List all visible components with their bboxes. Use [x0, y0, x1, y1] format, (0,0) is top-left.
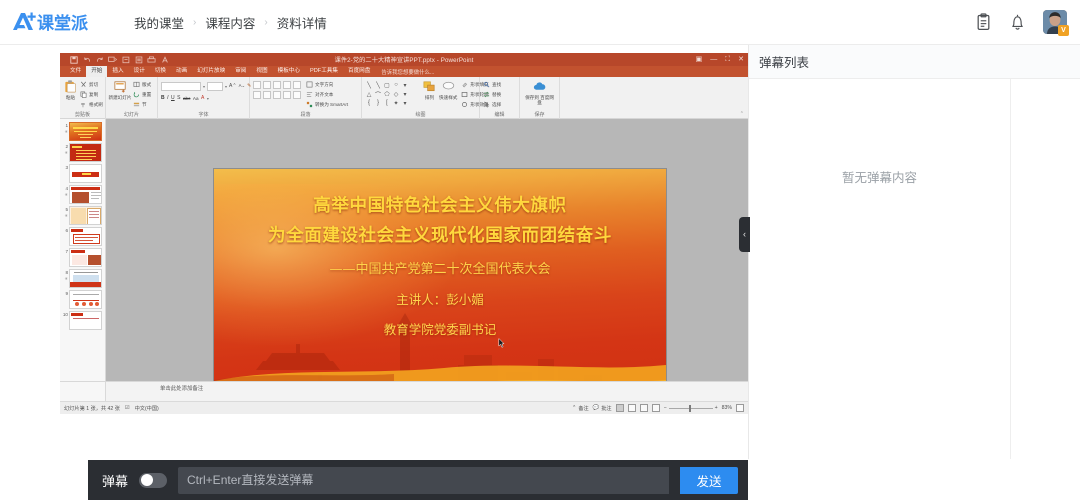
normal-view-icon[interactable]	[616, 404, 624, 412]
columns-icon[interactable]	[293, 91, 301, 99]
slide-sorter-icon[interactable]	[628, 404, 636, 412]
tab-home[interactable]: 开始	[86, 66, 107, 77]
thumbnail-5[interactable]	[69, 206, 102, 225]
ribbon-group-paragraph: 文字方向 对齐文本 转换为 SmartArt 段落	[250, 77, 362, 119]
shape-rect-icon[interactable]: ▢	[383, 81, 391, 89]
slide-presenter: 主讲人：彭小媚	[396, 285, 484, 315]
replace-label: 替换	[492, 92, 501, 98]
powerpoint-window: 课件2-党的二十大精神宣讲PPT.pptx - PowerPoint ▣ — ⛶…	[60, 53, 748, 414]
workspace: 课件2-党的二十大精神宣讲PPT.pptx - PowerPoint ▣ — ⛶…	[0, 45, 1080, 459]
thumbnail-row[interactable]: 7	[60, 247, 105, 268]
align-text-icon	[306, 91, 313, 98]
ribbon-group-slides: 新建幻灯片 版式 重置	[106, 77, 158, 119]
header-actions: V	[975, 10, 1080, 34]
chevron-left-icon: ‹	[743, 230, 746, 239]
paste-icon	[63, 79, 78, 94]
ppt-document-title: 课件2-党的二十大精神宣讲PPT.pptx - PowerPoint	[60, 55, 748, 64]
decrease-font-size-button[interactable]: A⌄	[239, 83, 246, 89]
panel-divider	[1010, 79, 1011, 459]
shape-oval-icon[interactable]: ○	[392, 81, 400, 89]
avatar[interactable]: V	[1043, 10, 1067, 34]
align-left-icon[interactable]	[253, 91, 261, 99]
layout-icon	[133, 81, 140, 88]
slide-subtitle: ——中国共产党第二十次全国代表大会	[329, 255, 550, 285]
thumb-number: 5	[65, 207, 68, 212]
ribbon-group-editing: 查找 替换 选择 编辑	[480, 77, 520, 119]
ribbon-group-font: ▾ ▾ A⌃ A⌄ ✎ B I U S abc	[158, 77, 250, 119]
increase-indent-icon[interactable]	[283, 81, 291, 89]
send-danmaku-button[interactable]: 发送	[680, 467, 738, 494]
replace-icon	[483, 91, 490, 98]
tab-slideshow[interactable]: 幻灯片放映	[192, 66, 230, 77]
cut-icon	[80, 81, 87, 88]
shape-brace-right-icon[interactable]: }	[374, 99, 382, 107]
font-size-dropdown-icon[interactable]: ▾	[225, 84, 227, 89]
thumbnail-10[interactable]	[69, 311, 102, 330]
copy-button[interactable]: 复制	[80, 90, 103, 99]
shape-triangle-icon[interactable]: △	[365, 90, 373, 98]
zoom-out-button[interactable]: −	[664, 405, 667, 411]
new-slide-button[interactable]: 新建幻灯片	[109, 79, 131, 101]
search-icon	[483, 81, 490, 88]
shape-diamond-icon[interactable]: ◇	[392, 90, 400, 98]
danmaku-input[interactable]	[178, 467, 669, 494]
danmaku-panel-header: 弹幕列表	[749, 45, 1080, 79]
ppt-status-bar: 幻灯片第 1 张，共 42 张 ☑ 中文(中国) ⌃ 备注 💬 批注	[60, 401, 748, 414]
breadcrumb-item-1[interactable]: 课程内容	[205, 13, 255, 32]
thumbnails-pane-tail	[60, 382, 106, 402]
section-label: 节	[142, 102, 147, 108]
align-text-label: 对齐文本	[315, 92, 333, 98]
app-header: 课堂派 我的课堂 › 课程内容 › 资料详情	[0, 0, 1080, 45]
zoom-track[interactable]	[669, 408, 713, 409]
breadcrumb-item-0[interactable]: 我的课堂	[134, 13, 184, 32]
thumbnail-4[interactable]	[69, 185, 102, 204]
italic-button[interactable]: I	[167, 95, 168, 101]
breadcrumb-separator-icon: ›	[264, 17, 267, 28]
text-direction-label: 文字方向	[315, 82, 333, 88]
thumb-number: 7	[65, 249, 68, 254]
quick-styles-label: 快速样式	[439, 95, 457, 101]
ribbon-collapse-area: ⌃	[560, 77, 748, 118]
cut-button[interactable]: 剪切	[80, 80, 103, 89]
clipboard-icon[interactable]	[975, 13, 992, 31]
status-left: 幻灯片第 1 张，共 42 张 ☑ 中文(中国)	[60, 405, 159, 412]
section-icon	[133, 101, 140, 108]
reading-view-icon[interactable]	[640, 404, 648, 412]
strikethrough-button[interactable]: abc	[183, 96, 190, 101]
shape-scroll-icon[interactable]: ▾	[401, 90, 409, 98]
reset-icon	[133, 91, 140, 98]
tab-insert[interactable]: 插入	[107, 66, 128, 77]
thumb-number: 9	[65, 291, 68, 296]
underline-button[interactable]: U	[171, 95, 175, 101]
ribbon-group-save: 保存到 百度网盘 保存	[520, 77, 560, 119]
replace-button[interactable]: 替换	[483, 90, 501, 99]
shape-more-icon[interactable]: ▾	[401, 81, 409, 89]
shape-outline-icon	[461, 91, 468, 98]
reset-button[interactable]: 重置	[133, 90, 151, 99]
thumbnail-row[interactable]: 1✳	[60, 121, 105, 142]
slide-text-content: 高举中国特色社会主义伟大旗帜 为全面建设社会主义现代化国家而团结奋斗 ——中国共…	[214, 169, 666, 414]
shape-bracket-icon[interactable]: [	[383, 99, 391, 107]
thumbnail-row[interactable]: 3	[60, 163, 105, 184]
danmaku-list-panel: ‹ 弹幕列表 暂无弹幕内容	[748, 45, 1080, 459]
maximize-button[interactable]: ⛶	[725, 53, 730, 66]
status-right: ⌃ 备注 💬 批注 − + 83%	[572, 404, 748, 412]
text-direction-button[interactable]: 文字方向	[306, 80, 348, 89]
danmaku-label: 弹幕	[102, 471, 128, 490]
line-spacing-icon[interactable]	[293, 81, 301, 89]
shadow-button[interactable]: S	[177, 95, 180, 101]
smartart-icon	[306, 101, 313, 108]
section-button[interactable]: 节	[133, 100, 151, 109]
danmaku-empty-state: 暂无弹幕内容	[749, 79, 1010, 459]
decrease-indent-icon[interactable]	[273, 81, 281, 89]
thumb-number: 8	[65, 270, 68, 275]
font-name-dropdown-icon[interactable]: ▾	[203, 84, 205, 89]
fit-to-window-icon[interactable]	[736, 404, 744, 412]
slide-counter: 幻灯片第 1 张，共 42 张	[64, 405, 120, 412]
shape-curve-icon[interactable]: ⌒	[374, 90, 382, 98]
reset-label: 重置	[142, 92, 151, 98]
shape-line-icon[interactable]: ╲	[365, 81, 373, 89]
new-slide-label: 新建幻灯片	[109, 95, 132, 101]
convert-smartart-button[interactable]: 转换为 SmartArt	[306, 100, 348, 109]
slide-thumbnails-pane[interactable]: 1✳ 2✳	[60, 119, 106, 381]
find-label: 查找	[492, 82, 501, 88]
zoom-in-button[interactable]: +	[715, 405, 718, 411]
arrange-button[interactable]: 排列	[422, 79, 437, 101]
animation-star-icon: ✳	[61, 192, 68, 198]
thumbnail-row[interactable]: 5✳	[60, 205, 105, 226]
layout-label: 版式	[142, 82, 151, 88]
paste-label: 粘贴	[66, 95, 75, 101]
group-label-save: 保存	[520, 112, 559, 119]
font-name-input[interactable]	[161, 82, 201, 91]
font-color-button[interactable]: A	[201, 95, 204, 101]
copy-label: 复制	[89, 92, 98, 98]
avatar-vip-badge: V	[1058, 25, 1069, 36]
ppt-viewer-column: 课件2-党的二十大精神宣讲PPT.pptx - PowerPoint ▣ — ⛶…	[0, 45, 748, 459]
svg-text:课堂派: 课堂派	[37, 13, 89, 34]
format-painter-label: 格式刷	[89, 102, 103, 108]
select-button[interactable]: 选择	[483, 100, 501, 109]
find-button[interactable]: 查找	[483, 80, 501, 89]
convert-smartart-label: 转换为 SmartArt	[315, 102, 348, 108]
group-label-editing: 编辑	[480, 112, 519, 119]
notes-placeholder[interactable]: 单击此处添加备注	[160, 384, 203, 392]
thumb-number: 2	[65, 144, 68, 149]
justify-icon[interactable]	[283, 91, 291, 99]
align-center-icon[interactable]	[263, 91, 271, 99]
font-size-input[interactable]	[207, 82, 223, 91]
font-color-dropdown-icon[interactable]: ▾	[207, 96, 209, 101]
select-icon	[483, 101, 490, 108]
arrange-label: 排列	[425, 95, 434, 101]
bullets-icon[interactable]	[253, 81, 261, 89]
thumbnail-row[interactable]: 10	[60, 310, 105, 331]
notes-icon: ⌃	[572, 405, 576, 411]
shape-fill-icon	[461, 81, 468, 88]
comments-toggle-label: 批注	[601, 405, 611, 412]
language-indicator[interactable]: 中文(中国)	[135, 405, 159, 412]
shape-effects-icon	[461, 101, 468, 108]
thumbnail-row[interactable]: 4✳	[60, 184, 105, 205]
group-label-slides: 幻灯片	[106, 112, 157, 119]
shape-arrow-icon[interactable]: ╲	[374, 81, 382, 89]
zoom-knob[interactable]	[689, 405, 691, 412]
animation-star-icon: ✳	[61, 129, 68, 135]
cut-label: 剪切	[89, 82, 98, 88]
notes-toggle-button[interactable]: ⌃ 备注	[572, 405, 589, 412]
comments-toggle-button[interactable]: 💬 批注	[593, 405, 612, 412]
animation-star-icon: ✳	[61, 276, 68, 282]
minimize-button[interactable]: —	[710, 53, 717, 66]
tab-animations[interactable]: 动画	[171, 66, 192, 77]
character-spacing-button[interactable]: Aa	[193, 96, 199, 101]
mouse-cursor-icon	[498, 338, 505, 348]
text-direction-icon	[306, 81, 313, 88]
thumb-number: 1	[65, 123, 68, 128]
thumbnail-row[interactable]: 9	[60, 289, 105, 310]
slideshow-view-icon[interactable]	[652, 404, 660, 412]
arrange-icon	[422, 79, 437, 94]
increase-font-size-button[interactable]: A⌃	[229, 83, 237, 89]
align-text-button[interactable]: 对齐文本	[306, 90, 348, 99]
tell-me-search[interactable]: 告诉我您想要做什么...	[381, 68, 434, 76]
layout-button[interactable]: 版式	[133, 80, 151, 89]
breadcrumb: 我的课堂 › 课程内容 › 资料详情	[134, 13, 327, 32]
tab-transitions[interactable]: 切换	[150, 66, 171, 77]
thumbnail-1[interactable]	[69, 122, 102, 141]
thumb-number: 10	[63, 312, 68, 317]
slide-editing-stage[interactable]: 高举中国特色社会主义伟大旗帜 为全面建设社会主义现代化国家而团结奋斗 ——中国共…	[106, 119, 748, 381]
save-to-baidu-netdisk-button[interactable]: 保存到 百度网盘	[523, 79, 556, 105]
animation-star-icon: ✳	[61, 213, 68, 219]
quick-styles-icon	[441, 79, 456, 94]
quick-styles-button[interactable]: 快速样式	[439, 79, 457, 101]
animation-star-icon: ✳	[61, 150, 68, 156]
group-label-paragraph: 段落	[250, 112, 361, 119]
ribbon-group-clipboard: 粘贴 剪切 复制	[60, 77, 106, 119]
tab-review[interactable]: 审阅	[230, 66, 251, 77]
comment-icon: 💬	[593, 405, 599, 411]
slide-presenter-role: 教育学院党委副书记	[384, 315, 497, 345]
thumbnail-2[interactable]	[69, 143, 102, 162]
brand-logo-icon: 课堂派	[10, 9, 110, 35]
breadcrumb-separator-icon: ›	[193, 17, 196, 28]
format-painter-icon	[80, 101, 87, 108]
shape-gallery-more-icon[interactable]: ▾	[401, 99, 409, 107]
shape-brace-left-icon[interactable]: {	[365, 99, 373, 107]
save-to-baidu-label: 保存到 百度网盘	[523, 95, 556, 105]
notes-toggle-label: 备注	[578, 405, 588, 412]
ribbon-collapse-icon[interactable]: ⌃	[740, 111, 744, 117]
bell-icon[interactable]	[1009, 13, 1026, 31]
thumb-number: 4	[65, 186, 68, 191]
thumbnail-row[interactable]: 2✳	[60, 142, 105, 163]
ppt-titlebar: 课件2-党的二十大精神宣讲PPT.pptx - PowerPoint ▣ — ⛶…	[60, 53, 748, 66]
ribbon-display-options-icon[interactable]: ▣	[696, 53, 703, 66]
group-label-clipboard: 剪贴板	[60, 112, 105, 119]
danmaku-toggle[interactable]	[139, 473, 167, 488]
thumbnail-3[interactable]	[69, 164, 102, 183]
tab-design[interactable]: 设计	[129, 66, 150, 77]
format-painter-button[interactable]: 格式刷	[80, 100, 103, 109]
thumbnail-8[interactable]	[69, 269, 102, 288]
thumbnail-row[interactable]: 6	[60, 226, 105, 247]
zoom-slider[interactable]: − +	[664, 405, 718, 411]
zoom-level-label[interactable]: 83%	[722, 405, 732, 411]
group-label-drawing: 绘图	[362, 112, 479, 119]
tab-baidu-netdisk[interactable]: 百度网盘	[343, 66, 375, 77]
window-controls: ▣ — ⛶ ✕	[696, 53, 744, 66]
thumb-number: 3	[65, 165, 68, 170]
thumb-number: 6	[65, 228, 68, 233]
new-slide-icon	[113, 79, 128, 94]
thumbnail-row[interactable]: 8✳	[60, 268, 105, 289]
shape-star-icon[interactable]: ✦	[392, 99, 400, 107]
ribbon-body: 粘贴 剪切 复制	[60, 77, 748, 119]
slide-title-line-1: 高举中国特色社会主义伟大旗帜	[313, 191, 566, 221]
ribbon-group-drawing: ╲ ╲ ▢ ○ ▾ △ ⌒ ⬠ ◇ ▾ {	[362, 77, 480, 119]
tab-view[interactable]: 视图	[251, 66, 272, 77]
paste-button[interactable]: 粘贴	[63, 79, 78, 101]
align-right-icon[interactable]	[273, 91, 281, 99]
shape-pentagon-icon[interactable]: ⬠	[383, 90, 391, 98]
select-label: 选择	[492, 102, 501, 108]
tab-template-center[interactable]: 模板中心	[273, 66, 305, 77]
logo[interactable]: 课堂派	[0, 0, 112, 45]
panel-title: 弹幕列表	[759, 52, 809, 71]
thumbnail-6[interactable]	[69, 227, 102, 246]
spell-check-icon[interactable]: ☑	[125, 405, 130, 411]
group-label-font: 字体	[158, 112, 249, 119]
danmaku-toggle-knob	[141, 474, 153, 486]
numbering-icon[interactable]	[263, 81, 271, 89]
close-button[interactable]: ✕	[738, 53, 744, 66]
ribbon-tabs: 文件 开始 插入 设计 切换 动画 幻灯片放映 审阅 视图 模板中心 PDF工具…	[60, 66, 748, 77]
notes-pane[interactable]: 单击此处添加备注	[60, 381, 748, 401]
baidu-cloud-icon	[532, 79, 547, 94]
bold-button[interactable]: B	[161, 95, 165, 101]
slide-title-line-2: 为全面建设社会主义现代化国家而团结奋斗	[268, 221, 612, 251]
tab-file[interactable]: 文件	[65, 66, 86, 77]
thumbnail-9[interactable]	[69, 290, 102, 309]
danmaku-composer-bar: 弹幕 发送	[88, 460, 748, 500]
tab-pdf-tools[interactable]: PDF工具集	[305, 66, 343, 77]
copy-icon	[80, 91, 87, 98]
thumbnail-7[interactable]	[69, 248, 102, 267]
breadcrumb-item-2: 资料详情	[277, 13, 327, 32]
current-slide[interactable]: 高举中国特色社会主义伟大旗帜 为全面建设社会主义现代化国家而团结奋斗 ——中国共…	[214, 169, 666, 414]
